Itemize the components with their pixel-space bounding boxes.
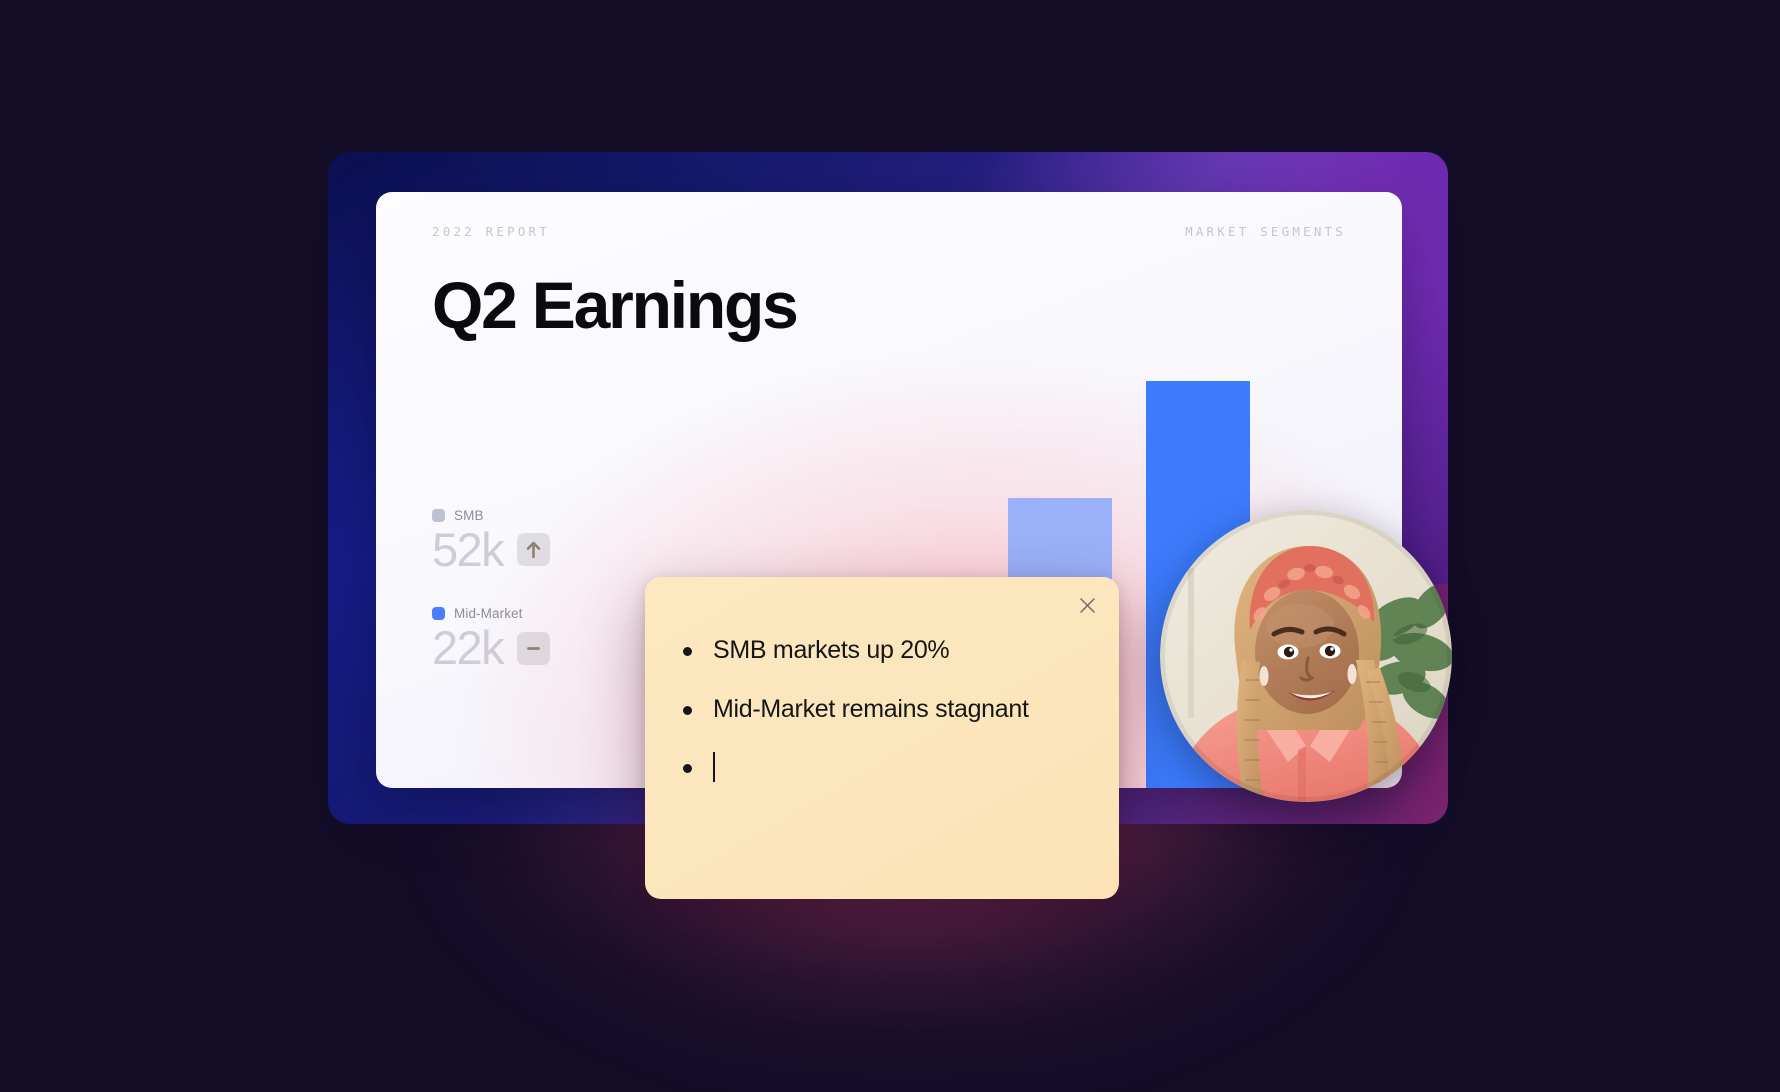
close-icon[interactable] [1071, 589, 1103, 621]
presentation-stage: 2022 REPORT MARKET SEGMENTS Q2 Earnings … [0, 0, 1780, 1092]
note-bullet-item[interactable]: SMB markets up 20% [681, 635, 1097, 666]
note-bullet-item[interactable] [681, 752, 1097, 784]
minus-icon [517, 632, 550, 665]
eyebrow-right: MARKET SEGMENTS [1185, 224, 1346, 239]
kpi-legend-list: SMB52kMid-Market22k [432, 508, 662, 705]
legend-swatch-icon [432, 509, 445, 522]
page-title: Q2 Earnings [432, 272, 797, 338]
avatar-portrait [1160, 510, 1452, 802]
note-bullet-item[interactable]: Mid-Market remains stagnant [681, 694, 1097, 725]
kpi-label: SMB [454, 508, 484, 523]
kpi-value: 22k [432, 623, 503, 672]
eyebrow-left: 2022 REPORT [432, 224, 550, 239]
slide-eyebrow-row: 2022 REPORT MARKET SEGMENTS [376, 224, 1402, 239]
note-bullet-text: Mid-Market remains stagnant [713, 695, 1029, 723]
avatar[interactable] [1160, 510, 1452, 802]
kpi-label-row: SMB [432, 508, 662, 523]
note-bullet-list[interactable]: SMB markets up 20%Mid-Market remains sta… [681, 635, 1097, 812]
text-caret [713, 752, 715, 782]
note-bullet-text: SMB markets up 20% [713, 636, 949, 664]
kpi-block-mid-market: Mid-Market22k [432, 606, 662, 672]
kpi-block-smb: SMB52k [432, 508, 662, 574]
legend-swatch-icon [432, 607, 445, 620]
kpi-value: 52k [432, 525, 503, 574]
kpi-label-row: Mid-Market [432, 606, 662, 621]
kpi-value-row: 22k [432, 623, 662, 672]
arrow-up-icon [517, 533, 550, 566]
sticky-note[interactable]: SMB markets up 20%Mid-Market remains sta… [645, 577, 1119, 899]
kpi-value-row: 52k [432, 525, 662, 574]
kpi-label: Mid-Market [454, 606, 523, 621]
